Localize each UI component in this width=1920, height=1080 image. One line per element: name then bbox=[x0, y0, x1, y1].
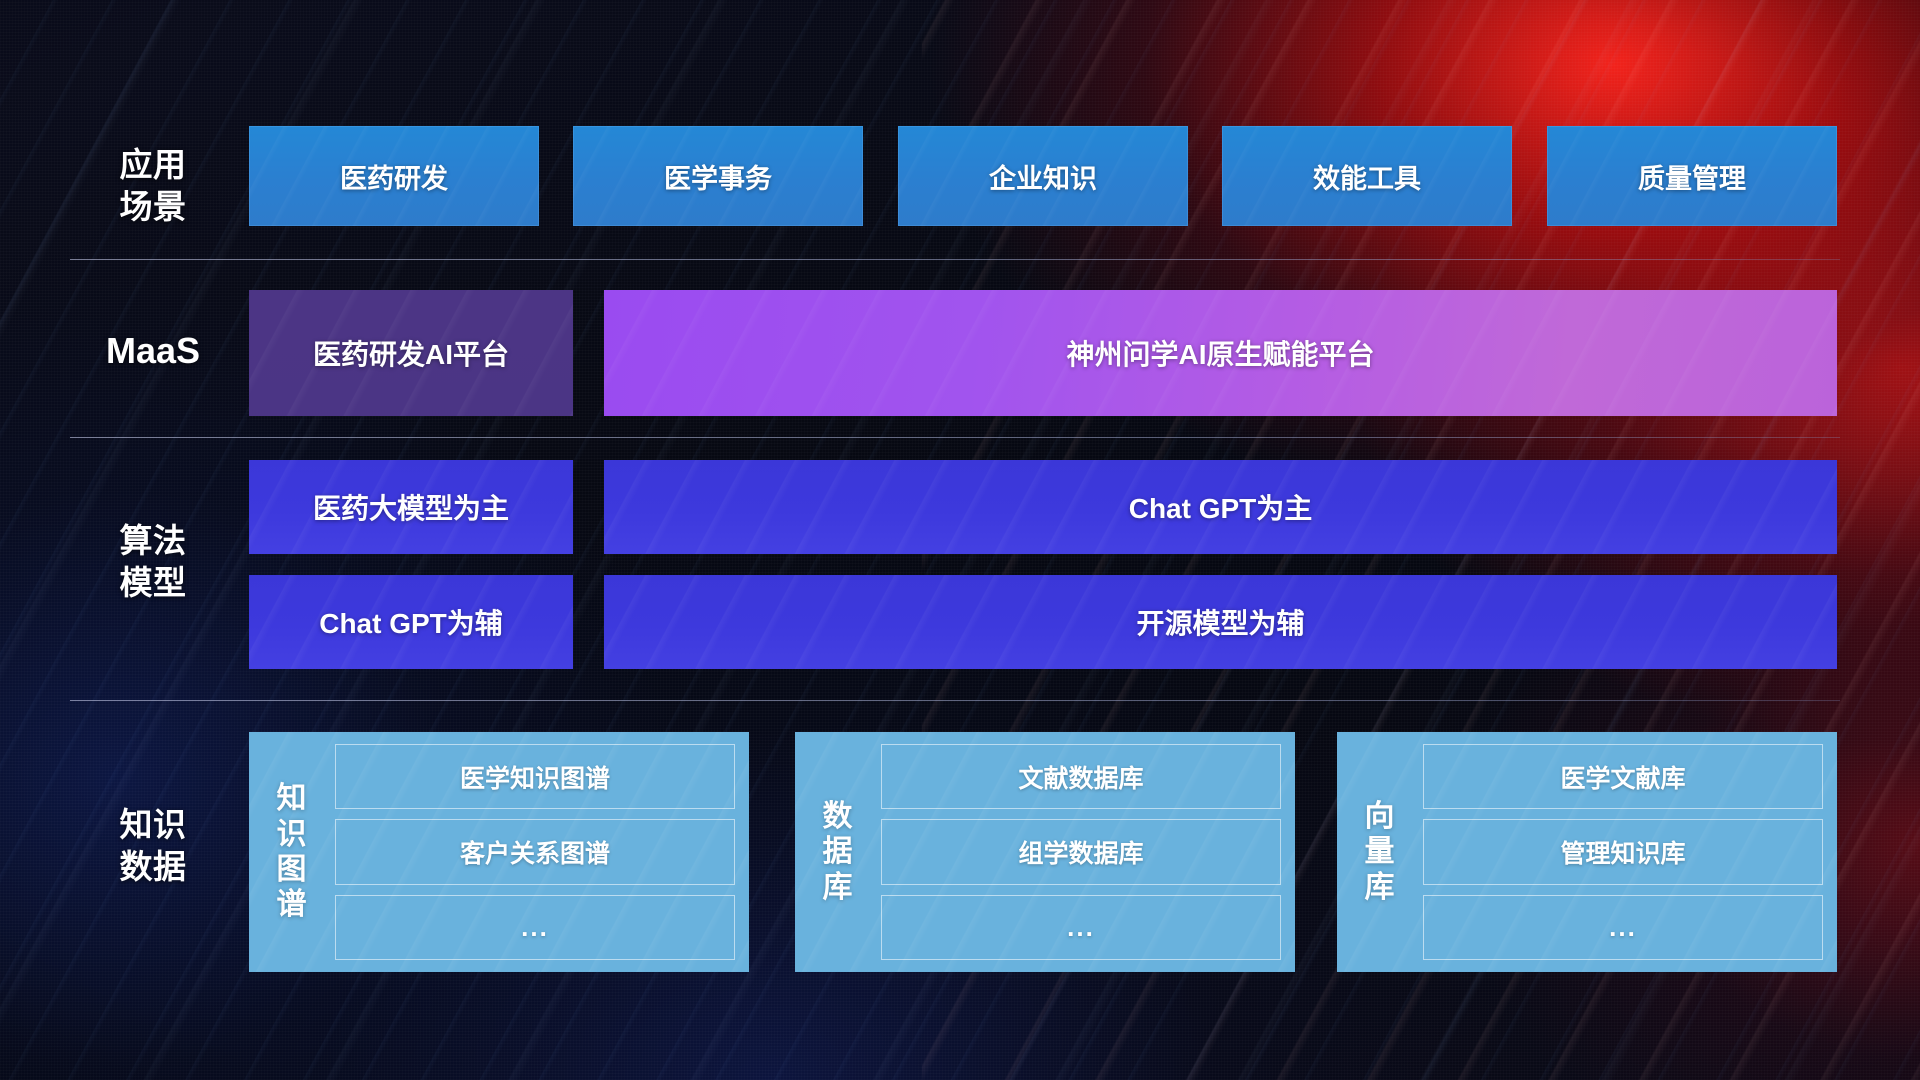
knowledge-item-literature-database[interactable]: 文献数据库 bbox=[881, 744, 1281, 809]
row-label-knowledge-line1: 知识 bbox=[78, 804, 228, 846]
row-label-algorithm-line1: 算法 bbox=[78, 520, 228, 562]
diagram-canvas: 应用 场景 医药研发 医学事务 企业知识 效能工具 质量管理 MaaS bbox=[0, 0, 1920, 1080]
knowledge-group-vector-store-title-char-1: 量 bbox=[1365, 834, 1396, 869]
knowledge-item-knowledge-graph-more[interactable]: ... bbox=[335, 895, 735, 960]
knowledge-item-omics-database-label: 组学数据库 bbox=[1018, 834, 1143, 870]
knowledge-group-knowledge-graph-title-char-3: 谱 bbox=[277, 887, 308, 922]
app-box-enterprise-knowledge[interactable]: 企业知识 bbox=[898, 126, 1188, 226]
app-box-enterprise-knowledge-label: 企业知识 bbox=[989, 157, 1097, 196]
knowledge-item-literature-database-label: 文献数据库 bbox=[1018, 759, 1143, 795]
architecture-diagram: 应用 场景 医药研发 医学事务 企业知识 效能工具 质量管理 MaaS bbox=[0, 0, 1920, 1080]
knowledge-group-vector-store-title-char-2: 库 bbox=[1365, 870, 1396, 905]
knowledge-group-vector-store[interactable]: 向 量 库 医学文献库 管理知识库 ... bbox=[1337, 732, 1837, 972]
knowledge-item-customer-relation-graph-label: 客户关系图谱 bbox=[460, 834, 610, 870]
knowledge-item-medical-literature-store[interactable]: 医学文献库 bbox=[1423, 744, 1823, 809]
knowledge-item-management-knowledge-store-label: 管理知识库 bbox=[1560, 834, 1685, 870]
row-label-algorithm: 算法 模型 bbox=[78, 520, 228, 603]
divider-maas-algorithm bbox=[70, 437, 1840, 438]
algo-box-chatgpt-primary[interactable]: Chat GPT为主 bbox=[604, 460, 1837, 554]
knowledge-group-vector-store-items: 医学文献库 管理知识库 ... bbox=[1413, 744, 1823, 960]
algo-box-opensource-secondary[interactable]: 开源模型为辅 bbox=[604, 575, 1837, 669]
divider-algorithm-knowledge bbox=[70, 700, 1840, 701]
divider-application-maas bbox=[70, 259, 1840, 260]
knowledge-item-database-more-label: ... bbox=[1067, 912, 1095, 943]
row-label-maas-text: MaaS bbox=[78, 328, 228, 373]
knowledge-group-knowledge-graph[interactable]: 知 识 图 谱 医学知识图谱 客户关系图谱 ... bbox=[249, 732, 749, 972]
knowledge-item-medical-knowledge-graph-label: 医学知识图谱 bbox=[460, 759, 610, 795]
app-box-efficiency-tools-label: 效能工具 bbox=[1313, 157, 1421, 196]
knowledge-item-omics-database[interactable]: 组学数据库 bbox=[881, 819, 1281, 884]
knowledge-group-database[interactable]: 数 据 库 文献数据库 组学数据库 ... bbox=[795, 732, 1295, 972]
app-box-drug-rd[interactable]: 医药研发 bbox=[249, 126, 539, 226]
knowledge-item-medical-literature-store-label: 医学文献库 bbox=[1560, 759, 1685, 795]
algo-box-chatgpt-primary-label: Chat GPT为主 bbox=[1129, 487, 1313, 527]
knowledge-group-knowledge-graph-title: 知 识 图 谱 bbox=[259, 744, 325, 960]
row-label-maas: MaaS bbox=[78, 328, 228, 373]
app-box-medical-affairs[interactable]: 医学事务 bbox=[573, 126, 863, 226]
knowledge-group-knowledge-graph-title-char-0: 知 bbox=[277, 781, 308, 816]
maas-box-drug-rd-ai-platform[interactable]: 医药研发AI平台 bbox=[249, 290, 573, 416]
knowledge-item-customer-relation-graph[interactable]: 客户关系图谱 bbox=[335, 819, 735, 884]
algo-box-opensource-secondary-label: 开源模型为辅 bbox=[1136, 602, 1304, 642]
knowledge-group-database-title-char-0: 数 bbox=[823, 799, 854, 834]
algo-box-chatgpt-secondary[interactable]: Chat GPT为辅 bbox=[249, 575, 573, 669]
row-label-knowledge-line2: 数据 bbox=[78, 846, 228, 888]
row-label-knowledge: 知识 数据 bbox=[78, 804, 228, 887]
knowledge-group-database-title-char-1: 据 bbox=[823, 834, 854, 869]
knowledge-item-management-knowledge-store[interactable]: 管理知识库 bbox=[1423, 819, 1823, 884]
knowledge-group-vector-store-title: 向 量 库 bbox=[1347, 744, 1413, 960]
knowledge-item-knowledge-graph-more-label: ... bbox=[521, 912, 549, 943]
knowledge-item-vector-store-more-label: ... bbox=[1609, 912, 1637, 943]
row-label-application-line1: 应用 bbox=[78, 144, 228, 186]
maas-box-drug-rd-ai-platform-label: 医药研发AI平台 bbox=[313, 333, 509, 373]
row-label-application-line2: 场景 bbox=[78, 186, 228, 228]
knowledge-item-vector-store-more[interactable]: ... bbox=[1423, 895, 1823, 960]
row-label-algorithm-line2: 模型 bbox=[78, 562, 228, 604]
maas-box-shenzhou-wenxue-platform-label: 神州问学AI原生赋能平台 bbox=[1066, 333, 1374, 373]
algo-box-pharma-llm-primary[interactable]: 医药大模型为主 bbox=[249, 460, 573, 554]
maas-box-shenzhou-wenxue-platform[interactable]: 神州问学AI原生赋能平台 bbox=[604, 290, 1837, 416]
app-box-efficiency-tools[interactable]: 效能工具 bbox=[1222, 126, 1512, 226]
knowledge-group-knowledge-graph-title-char-1: 识 bbox=[277, 817, 308, 852]
algo-box-pharma-llm-primary-label: 医药大模型为主 bbox=[313, 487, 509, 527]
knowledge-group-knowledge-graph-items: 医学知识图谱 客户关系图谱 ... bbox=[325, 744, 735, 960]
knowledge-group-vector-store-title-char-0: 向 bbox=[1365, 799, 1396, 834]
knowledge-item-database-more[interactable]: ... bbox=[881, 895, 1281, 960]
app-box-medical-affairs-label: 医学事务 bbox=[664, 157, 772, 196]
knowledge-group-database-title: 数 据 库 bbox=[805, 744, 871, 960]
knowledge-group-knowledge-graph-title-char-2: 图 bbox=[277, 852, 308, 887]
algo-box-chatgpt-secondary-label: Chat GPT为辅 bbox=[319, 602, 503, 642]
knowledge-group-database-title-char-2: 库 bbox=[823, 870, 854, 905]
knowledge-item-medical-knowledge-graph[interactable]: 医学知识图谱 bbox=[335, 744, 735, 809]
row-label-application: 应用 场景 bbox=[78, 144, 228, 227]
knowledge-group-database-items: 文献数据库 组学数据库 ... bbox=[871, 744, 1281, 960]
app-box-quality-management[interactable]: 质量管理 bbox=[1547, 126, 1837, 226]
app-box-drug-rd-label: 医药研发 bbox=[340, 157, 448, 196]
app-box-quality-management-label: 质量管理 bbox=[1638, 157, 1746, 196]
